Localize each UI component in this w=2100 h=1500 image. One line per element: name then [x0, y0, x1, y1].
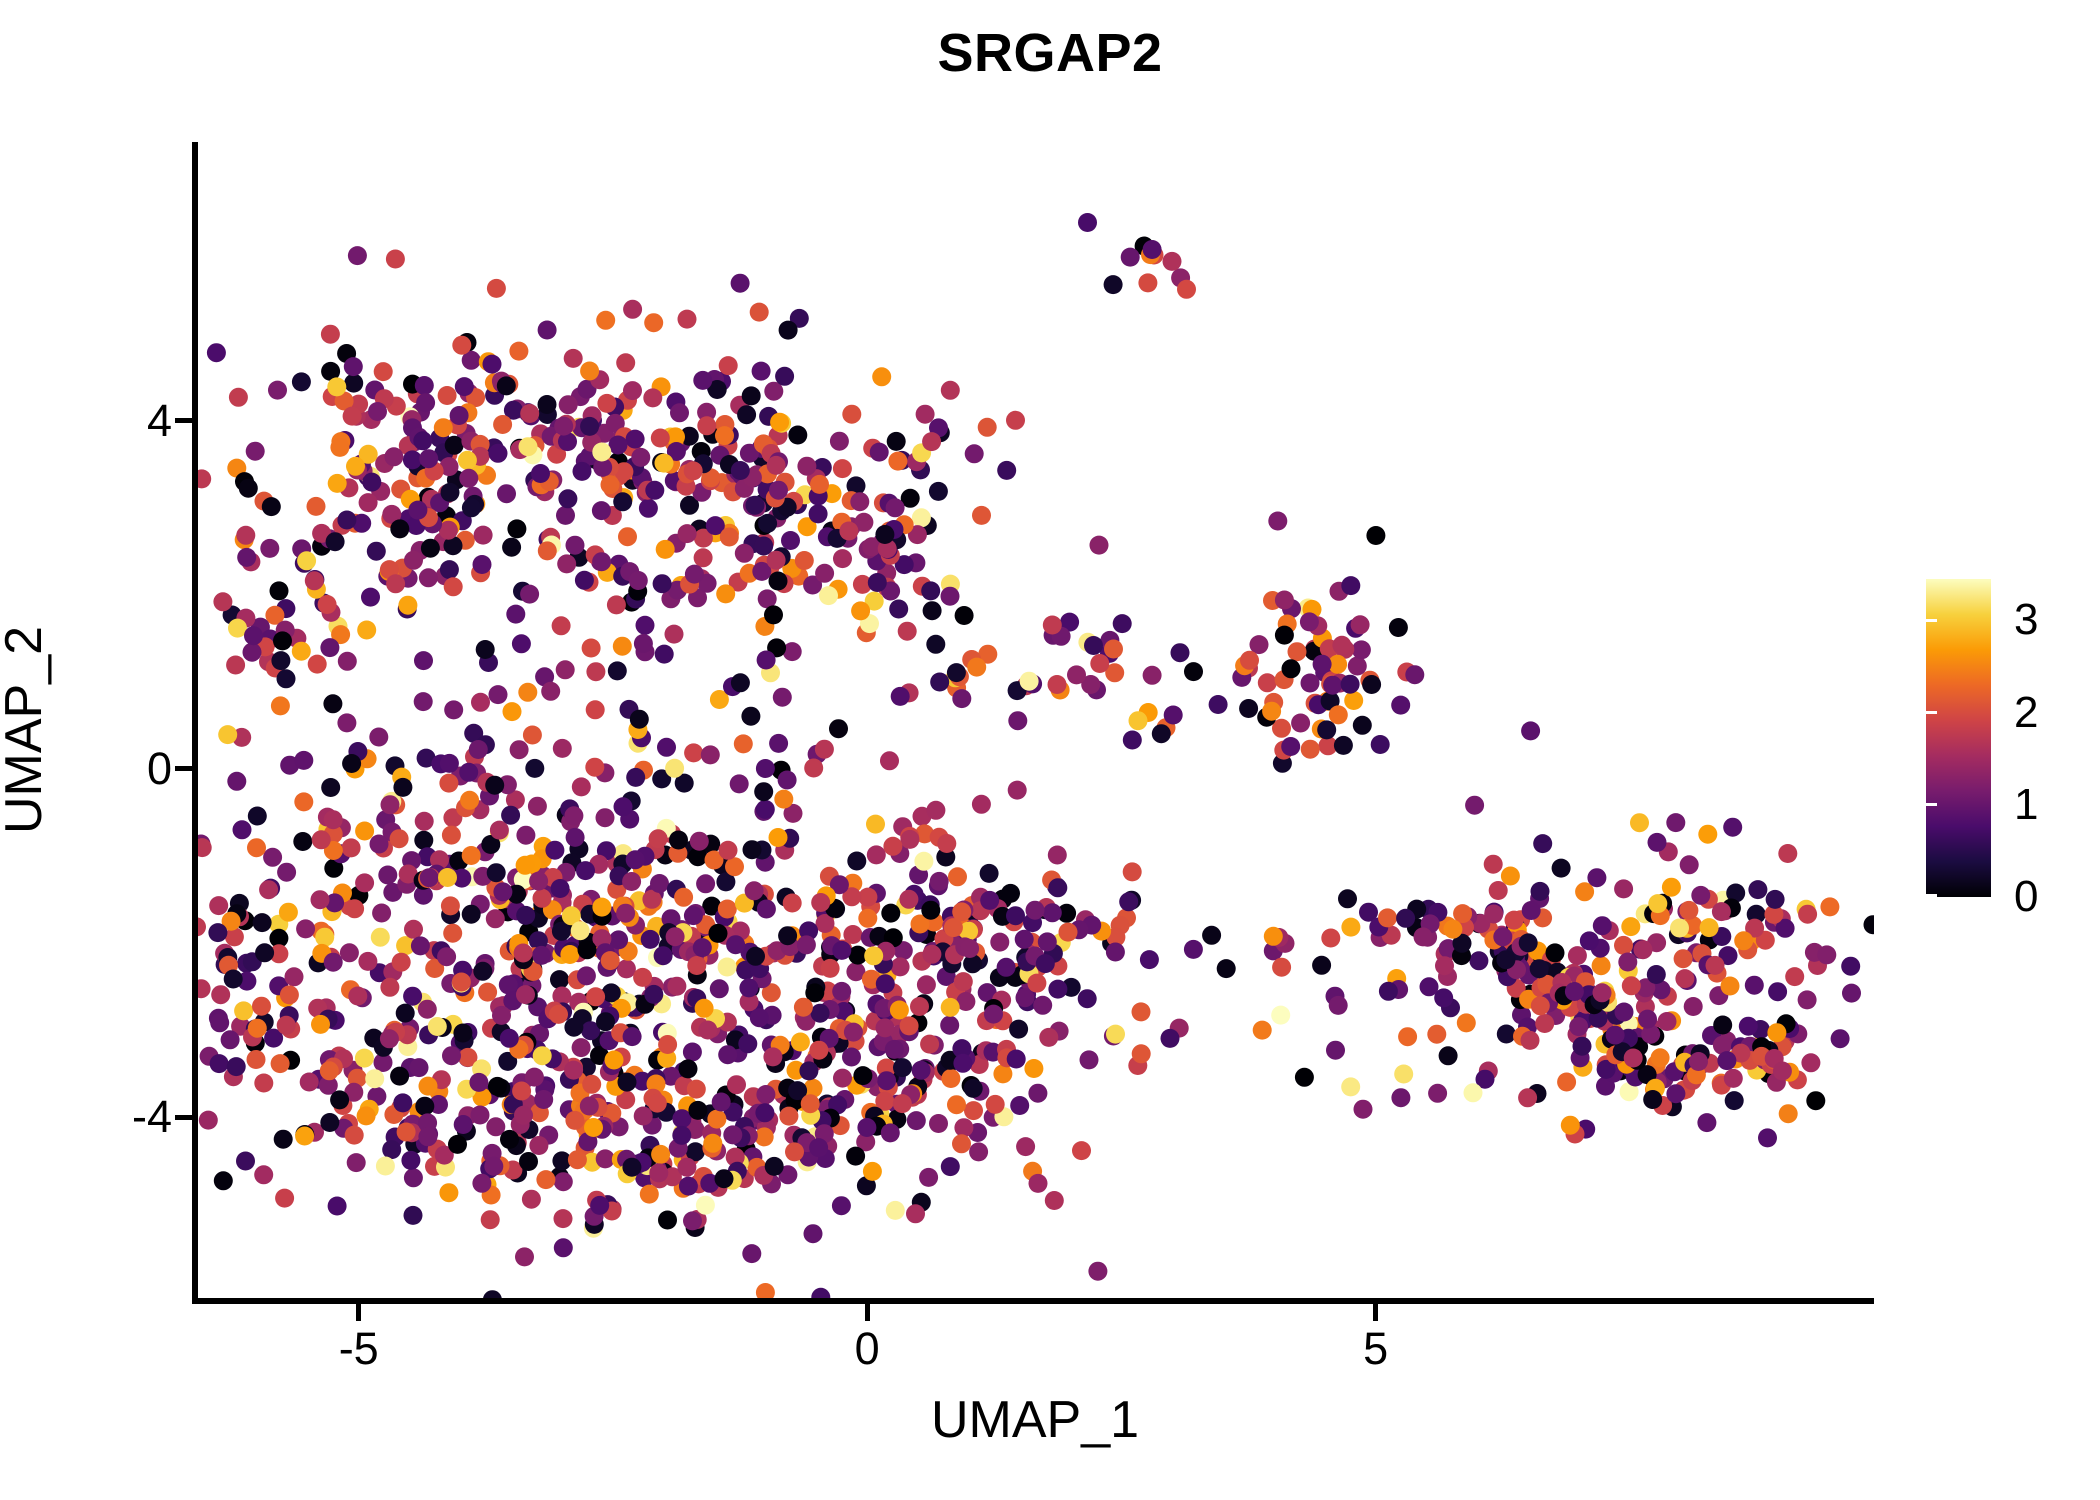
scatter-point	[644, 985, 663, 1004]
scatter-point	[255, 943, 274, 962]
scatter-point	[525, 759, 544, 778]
scatter-point	[875, 525, 894, 544]
scatter-point	[1161, 1029, 1180, 1048]
scatter-point	[809, 504, 828, 523]
scatter-point	[1435, 956, 1454, 975]
colorbar-tick-label: 1	[2014, 783, 2038, 827]
scatter-point	[577, 966, 596, 985]
scatter-point	[592, 501, 611, 520]
scatter-point	[1184, 940, 1203, 959]
scatter-point	[919, 1168, 938, 1187]
scatter-point	[839, 522, 858, 541]
scatter-point	[472, 1174, 491, 1193]
scatter-point	[648, 1094, 667, 1113]
y-tick-mark	[175, 766, 192, 771]
scatter-point	[1768, 982, 1787, 1001]
scatter-point	[1104, 275, 1123, 294]
scatter-point	[564, 1018, 583, 1037]
scatter-point	[324, 810, 343, 829]
scatter-point	[867, 845, 886, 864]
scatter-plot-panel	[196, 142, 1874, 1300]
scatter-point	[1140, 950, 1159, 969]
scatter-point	[1497, 1025, 1516, 1044]
scatter-point	[499, 975, 518, 994]
scatter-point	[1689, 1052, 1708, 1071]
scatter-point	[462, 905, 481, 924]
scatter-point	[779, 321, 798, 340]
scatter-point	[696, 1196, 715, 1215]
scatter-point	[315, 928, 334, 947]
scatter-point	[361, 588, 380, 607]
scatter-point	[280, 985, 299, 1004]
scatter-point	[398, 596, 417, 615]
scatter-point	[693, 371, 712, 390]
scatter-point	[1593, 983, 1612, 1002]
scatter-point	[370, 835, 389, 854]
scatter-point	[355, 822, 374, 841]
scatter-point	[941, 587, 960, 606]
scatter-point	[558, 489, 577, 508]
scatter-point	[596, 1012, 615, 1031]
scatter-point	[484, 1157, 503, 1176]
scatter-point	[1001, 884, 1020, 903]
scatter-point	[1007, 1050, 1026, 1069]
scatter-point	[532, 946, 551, 965]
scatter-point	[1084, 636, 1103, 655]
scatter-point	[403, 450, 422, 469]
scatter-point	[1614, 879, 1633, 898]
scatter-point	[794, 998, 813, 1017]
scatter-point	[1317, 720, 1336, 739]
scatter-point	[263, 848, 282, 867]
scatter-point	[1039, 1028, 1058, 1047]
scatter-point	[455, 377, 474, 396]
scatter-point	[1651, 1048, 1670, 1067]
scatter-point	[745, 881, 764, 900]
scatter-point	[978, 418, 997, 437]
scatter-point	[847, 852, 866, 871]
scatter-point	[636, 616, 655, 635]
scatter-point	[778, 926, 797, 945]
scatter-point	[560, 945, 579, 964]
scatter-point	[1831, 1029, 1850, 1048]
scatter-point	[428, 1017, 447, 1036]
scatter-point	[916, 405, 935, 424]
scatter-point	[246, 442, 265, 461]
scatter-point	[247, 1050, 266, 1069]
scatter-point	[1773, 1062, 1792, 1081]
scatter-point	[941, 998, 960, 1017]
scatter-point	[868, 573, 887, 592]
scatter-point	[622, 1158, 641, 1177]
scatter-point	[1630, 813, 1649, 832]
scatter-point	[348, 987, 367, 1006]
scatter-point	[797, 935, 816, 954]
scatter-point	[492, 1006, 511, 1025]
scatter-point	[1565, 982, 1584, 1001]
x-axis-title: UMAP_1	[196, 1390, 1874, 1450]
scatter-point	[292, 642, 311, 661]
scatter-point	[1643, 1090, 1662, 1109]
scatter-point	[1552, 859, 1571, 878]
scatter-point	[756, 800, 775, 819]
scatter-point	[1072, 1141, 1091, 1160]
scatter-point	[876, 974, 895, 993]
scatter-point	[1106, 943, 1125, 962]
scatter-point	[712, 1093, 731, 1112]
scatter-point	[746, 947, 765, 966]
scatter-point	[507, 519, 526, 538]
scatter-point	[510, 740, 529, 759]
scatter-point	[941, 381, 960, 400]
scatter-point	[850, 492, 869, 511]
scatter-point	[1521, 721, 1540, 740]
colorbar-tick-mark	[2075, 803, 2086, 806]
scatter-point	[742, 386, 761, 405]
scatter-point	[452, 973, 471, 992]
scatter-point	[585, 758, 604, 777]
scatter-point	[1391, 1088, 1410, 1107]
scatter-point	[460, 791, 479, 810]
scatter-point	[1457, 1013, 1476, 1032]
scatter-point	[573, 462, 592, 481]
scatter-point	[1362, 675, 1381, 694]
scatter-point	[218, 725, 237, 744]
scatter-point	[453, 1024, 472, 1043]
scatter-point	[1680, 855, 1699, 874]
scatter-point	[1006, 906, 1025, 925]
scatter-point	[294, 792, 313, 811]
scatter-point	[1618, 953, 1637, 972]
scatter-point	[1332, 636, 1351, 655]
scatter-point	[390, 829, 409, 848]
scatter-point	[955, 606, 974, 625]
scatter-point	[990, 933, 1009, 952]
scatter-point	[667, 977, 686, 996]
scatter-point	[623, 300, 642, 319]
scatter-point	[1484, 855, 1503, 874]
scatter-point	[248, 807, 267, 826]
scatter-point	[1801, 1053, 1820, 1072]
scatter-point	[541, 682, 560, 701]
scatter-point	[964, 1079, 983, 1098]
scatter-point	[497, 376, 516, 395]
scatter-point	[940, 1016, 959, 1035]
scatter-point	[763, 1047, 782, 1066]
scatter-point	[439, 774, 458, 793]
scatter-point	[1078, 213, 1097, 232]
scatter-point	[623, 1027, 642, 1046]
scatter-point	[368, 402, 387, 421]
scatter-point	[1008, 711, 1027, 730]
scatter-point	[696, 874, 715, 893]
scatter-point	[565, 1111, 584, 1130]
scatter-point	[750, 1008, 769, 1027]
scatter-point	[679, 1059, 698, 1078]
scatter-point	[654, 946, 673, 965]
scatter-point	[1321, 929, 1340, 948]
scatter-point	[1658, 1012, 1677, 1031]
scatter-point	[493, 882, 512, 901]
scatter-point	[1778, 844, 1797, 863]
scatter-point	[1443, 920, 1462, 939]
scatter-point	[1713, 1016, 1732, 1035]
scatter-point	[305, 571, 324, 590]
scatter-point	[307, 497, 326, 516]
scatter-point	[601, 475, 620, 494]
scatter-point	[1016, 988, 1035, 1007]
scatter-point	[1354, 1100, 1373, 1119]
scatter-point	[930, 673, 949, 692]
scatter-point	[419, 449, 438, 468]
scatter-point	[912, 508, 931, 527]
scatter-point	[338, 652, 357, 671]
scatter-point	[695, 999, 714, 1018]
scatter-point	[473, 555, 492, 574]
scatter-point	[487, 279, 506, 298]
scatter-point	[390, 519, 409, 538]
scatter-point	[415, 1097, 434, 1116]
scatter-point	[580, 417, 599, 436]
scatter-point	[381, 795, 400, 814]
scatter-point	[1675, 969, 1694, 988]
scatter-point	[318, 595, 337, 614]
scatter-point	[538, 321, 557, 340]
scatter-point	[342, 838, 361, 857]
y-axis-line	[192, 142, 198, 1304]
scatter-point	[592, 443, 611, 462]
scatter-point	[1301, 740, 1320, 759]
scatter-point	[489, 685, 508, 704]
scatter-point	[1561, 1116, 1580, 1135]
scatter-point	[582, 639, 601, 658]
scatter-point	[294, 751, 313, 770]
scatter-point	[376, 1157, 395, 1176]
scatter-point	[234, 1001, 253, 1020]
scatter-point	[1016, 1137, 1035, 1156]
scatter-point	[1569, 1017, 1588, 1036]
scatter-point	[320, 638, 339, 657]
scatter-point	[910, 997, 929, 1016]
scatter-point	[419, 1077, 438, 1096]
scatter-point	[778, 771, 797, 790]
scatter-point	[320, 1113, 339, 1132]
scatter-point	[954, 972, 973, 991]
scatter-point	[347, 1153, 366, 1172]
scatter-point	[1312, 956, 1331, 975]
scatter-point	[342, 754, 361, 773]
scatter-point	[984, 1005, 1003, 1024]
scatter-point	[1323, 676, 1342, 695]
scatter-point	[1138, 273, 1157, 292]
scatter-point	[1341, 576, 1360, 595]
scatter-point	[880, 751, 899, 770]
scatter-point	[731, 274, 750, 293]
scatter-point	[596, 808, 615, 827]
scatter-point	[1798, 905, 1817, 924]
scatter-point	[1048, 675, 1067, 694]
scatter-point	[445, 436, 464, 455]
scatter-point	[811, 893, 830, 912]
scatter-point	[566, 536, 585, 555]
scatter-point	[1010, 1096, 1029, 1115]
scatter-point	[685, 565, 704, 584]
scatter-point	[454, 1115, 473, 1134]
scatter-point	[556, 506, 575, 525]
scatter-point	[227, 772, 246, 791]
scatter-point	[1295, 1068, 1314, 1087]
scatter-point	[516, 856, 535, 875]
scatter-point	[534, 1090, 553, 1109]
scatter-point	[785, 1142, 804, 1161]
scatter-point	[345, 899, 364, 918]
scatter-point	[531, 464, 550, 483]
scatter-point	[819, 586, 838, 605]
scatter-point	[247, 838, 266, 857]
scatter-point	[821, 959, 840, 978]
scatter-point	[196, 469, 211, 488]
scatter-point	[666, 927, 685, 946]
scatter-point	[815, 740, 834, 759]
scatter-point	[872, 367, 891, 386]
scatter-point	[697, 416, 716, 435]
scatter-point	[618, 1073, 637, 1092]
scatter-point	[960, 939, 979, 958]
scatter-point	[308, 655, 327, 674]
scatter-point	[1152, 724, 1171, 743]
scatter-point	[488, 1077, 507, 1096]
scatter-point	[755, 1103, 774, 1122]
scatter-point	[1352, 640, 1371, 659]
scatter-point	[434, 418, 453, 437]
scatter-point	[444, 577, 463, 596]
scatter-point	[270, 581, 289, 600]
scatter-point	[1378, 908, 1397, 927]
scatter-point	[1634, 940, 1653, 959]
scatter-point	[853, 1066, 872, 1085]
scatter-point	[906, 1204, 925, 1223]
scatter-point	[1779, 1104, 1798, 1123]
scatter-point	[1587, 868, 1606, 887]
scatter-point	[501, 806, 520, 825]
scatter-point	[556, 660, 575, 679]
scatter-point	[1371, 735, 1390, 754]
scatter-point	[311, 890, 330, 909]
scatter-point	[440, 754, 459, 773]
scatter-point	[832, 982, 851, 1001]
scatter-point	[487, 863, 506, 882]
scatter-point	[718, 900, 737, 919]
scatter-point	[469, 740, 488, 759]
scatter-point	[607, 595, 626, 614]
scatter-point	[881, 904, 900, 923]
scatter-point	[622, 872, 641, 891]
scatter-point	[386, 250, 405, 269]
scatter-point	[1606, 1026, 1625, 1045]
scatter-point	[293, 832, 312, 851]
scatter-point	[1048, 846, 1067, 865]
scatter-point	[641, 930, 660, 949]
scatter-point	[503, 702, 522, 721]
scatter-point	[756, 759, 775, 778]
scatter-point	[568, 1150, 587, 1169]
scatter-point	[1119, 892, 1138, 911]
scatter-point	[411, 936, 430, 955]
scatter-point	[404, 1168, 423, 1187]
scatter-point	[1428, 1084, 1447, 1103]
scatter-point	[742, 1244, 761, 1263]
scatter-point	[1341, 1077, 1360, 1096]
scatter-point	[458, 451, 477, 470]
scatter-point	[452, 336, 471, 355]
scatter-point	[1496, 950, 1515, 969]
scatter-point	[396, 1004, 415, 1023]
scatter-point	[586, 987, 605, 1006]
scatter-point	[851, 601, 870, 620]
scatter-point	[437, 947, 456, 966]
scatter-point	[720, 528, 739, 547]
scatter-point	[440, 560, 459, 579]
scatter-point	[1288, 642, 1307, 661]
scatter-point	[1143, 666, 1162, 685]
scatter-point	[271, 696, 290, 715]
scatter-point	[1712, 902, 1731, 921]
scatter-point	[883, 837, 902, 856]
scatter-point	[920, 1035, 939, 1054]
scatter-point	[520, 404, 539, 423]
scatter-point	[701, 745, 720, 764]
scatter-point	[497, 484, 516, 503]
scatter-point	[888, 452, 907, 471]
scatter-point	[658, 1211, 677, 1230]
scatter-point	[1684, 997, 1703, 1016]
scatter-point	[397, 1123, 416, 1142]
scatter-point	[891, 957, 910, 976]
scatter-point	[536, 1170, 555, 1189]
scatter-point	[550, 970, 569, 989]
scatter-point	[211, 985, 230, 1004]
scatter-point	[474, 526, 493, 545]
scatter-point	[355, 873, 374, 892]
colorbar-tick-label: 3	[2014, 598, 2038, 642]
scatter-point	[401, 1151, 420, 1170]
scatter-point	[1015, 930, 1034, 949]
scatter-point	[844, 1023, 863, 1042]
scatter-point	[650, 874, 669, 893]
scatter-point	[414, 692, 433, 711]
scatter-point	[1313, 655, 1332, 674]
scatter-point	[1143, 240, 1162, 259]
scatter-point	[439, 1183, 458, 1202]
scatter-point	[1679, 901, 1698, 920]
scatter-point	[953, 1054, 972, 1073]
scatter-point	[1557, 1073, 1576, 1092]
scatter-point	[1817, 945, 1836, 964]
scatter-point	[1530, 959, 1549, 978]
x-axis-line	[192, 1298, 1874, 1304]
scatter-point	[380, 1029, 399, 1048]
scatter-point	[1841, 957, 1860, 976]
scatter-point	[1043, 903, 1062, 922]
scatter-point	[500, 1029, 519, 1048]
scatter-point	[890, 1001, 909, 1020]
scatter-point	[912, 1061, 931, 1080]
scatter-point	[450, 406, 469, 425]
scatter-point	[730, 774, 749, 793]
scatter-point	[564, 349, 583, 368]
scatter-point	[601, 951, 620, 970]
scatter-point	[1334, 736, 1353, 755]
